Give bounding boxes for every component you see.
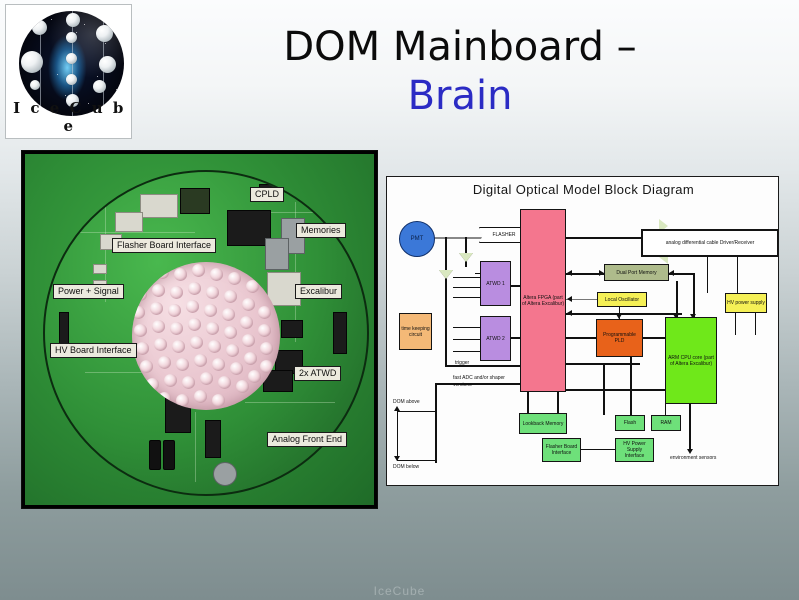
block-altera-fpga-label: Altera FPGA (part of Altera Excalibur) [522,295,564,307]
title-line-1: DOM Mainboard – [140,22,780,72]
block-altera-fpga: Altera FPGA (part of Altera Excalibur) [520,209,566,392]
pcb-label-flasher-board-interface: Flasher Board Interface [112,238,216,253]
block-programmable-pld-label: Programmable PLD [598,332,641,344]
block-hv-power-supply: HV power supply [725,293,767,313]
block-atwd-2-label: ATWD 2 [486,336,505,342]
block-hv-power-supply-label: HV power supply [727,300,765,306]
amplifier-triangle-2 [439,270,453,279]
diagram-label-fast-adc-shaper: fast ADC and/or shaper [453,375,505,381]
block-dual-port-memory-label: Dual Port Memory [616,270,656,276]
block-arm-cpu-core: ARM CPU core (part of Altera Excalibur) [665,317,717,404]
block-atwd-2: ATWD 2 [480,316,511,361]
block-programmable-pld: Programmable PLD [596,319,643,357]
block-flash: Flash [615,415,645,431]
digital-optical-module-block-diagram: Digital Optical Model Block Diagram [386,176,779,486]
block-lookback-memory: Lookback Memory [519,413,567,434]
pcb-circular-board [43,170,369,496]
page-title: DOM Mainboard – Brain [140,22,780,120]
block-flasher-label: FLASHER [492,232,515,238]
block-atwd-1: ATWD 1 [480,261,511,306]
diagram-label-dom-below: DOM below [393,464,419,470]
block-ram-label: RAM [660,420,671,426]
block-atwd-1-label: ATWD 1 [486,281,505,287]
block-cable-driver-receiver: analog differential cable Driver/Receive… [641,229,779,257]
arrow-env-sensors [687,449,693,454]
pcb-label-hv-board-interface: HV Board Interface [50,343,137,358]
block-flasher-board-interface: Flasher Board Interface [542,438,581,462]
icecube-logo: I c e C u b e [5,4,132,139]
amplifier-triangle-1 [459,253,473,262]
arrow-dom-above [394,406,400,411]
pcb-label-memories: Memories [296,223,346,238]
block-dual-port-memory: Dual Port Memory [604,264,669,281]
block-pmt: PMT [399,221,435,257]
block-hv-power-supply-interface-label: HV Power Supply Interface [617,441,652,459]
block-time-keeping-circuit: time keeping circuit [399,313,432,350]
bubble-wrap-cover [132,262,280,410]
block-time-keeping-circuit-label: time keeping circuit [401,326,430,338]
diagram-title: Digital Optical Model Block Diagram [387,182,779,197]
arrow-dual-port-left [567,270,572,276]
diagram-label-environment-sensors: environment sensors [670,455,716,461]
dom-mainboard-photo: CPLD Memories Flasher Board Interface Po… [21,150,378,509]
diagram-label-trigger: trigger [455,360,469,366]
diagram-label-dom-above: DOM above [393,399,420,405]
block-pmt-label: PMT [411,236,424,242]
block-hv-power-supply-interface: HV Power Supply Interface [615,438,654,462]
block-arm-cpu-core-label: ARM CPU core (part of Altera Excalibur) [667,355,715,367]
pcb-label-analog-front-end: Analog Front End [267,432,347,447]
pcb-label-power-signal: Power + Signal [53,284,124,299]
icecube-logo-caption: I c e C u b e [6,99,132,135]
arrow-fpga-left-2 [567,310,572,316]
block-local-oscillator-label: Local Oscillator [605,297,639,303]
block-flash-label: Flash [624,420,636,426]
title-line-2: Brain [140,72,780,120]
pcb-substrate [25,154,374,505]
slide-footer: IceCube [0,584,799,598]
pcb-label-cpld: CPLD [250,187,284,202]
block-local-oscillator: Local Oscillator [597,292,647,307]
block-lookback-memory-label: Lookback Memory [523,421,564,427]
arrow-fpga-left-1 [567,296,572,302]
arrow-dualport-in [669,270,674,276]
pcb-label-2x-atwd: 2x ATWD [294,366,341,381]
block-ram: RAM [651,415,681,431]
block-cable-driver-receiver-label: analog differential cable Driver/Receive… [666,240,755,246]
arrow-dom-below [394,456,400,461]
diagram-label-fast-adc-versions: versions [453,382,472,388]
pcb-label-excalibur: Excalibur [295,284,342,299]
block-flasher-board-interface-label: Flasher Board Interface [544,444,579,456]
